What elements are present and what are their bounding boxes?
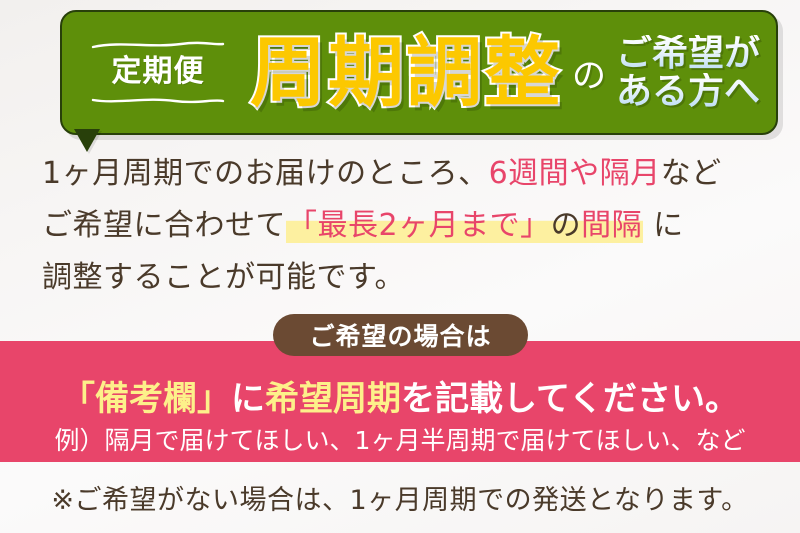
body-line-2-plain-a: ご希望に合わせて xyxy=(42,208,286,243)
pink-instruction-band: 「備考欄」に希望周期を記載してください。 例）隔月で届けてほしい、1ヶ月半周期で… xyxy=(0,341,800,462)
pink-band-main-text: 「備考欄」に希望周期を記載してください。 xyxy=(0,371,800,420)
kibou-case-pill-label: ご希望の場合は xyxy=(309,317,491,353)
pink-band-yellow-1: 「備考欄」 xyxy=(61,379,231,419)
wavy-line-top-icon xyxy=(91,41,225,49)
kibou-case-pill: ご希望の場合は xyxy=(273,314,528,356)
subscription-cycle-adjustment-banner: 定期便 周期調整 の ご希望が ある方へ 1ヶ月周期でのお届けのところ、6週間や… xyxy=(0,0,800,533)
header-green-bubble: 定期便 周期調整 の ご希望が ある方へ xyxy=(60,10,778,135)
body-line-1-plain-b: など xyxy=(661,156,722,191)
pink-band-white-2: を記載してください。 xyxy=(401,379,739,419)
body-line-2-plain-b: に xyxy=(643,208,684,243)
title-particle: の xyxy=(572,48,606,97)
body-paragraph: 1ヶ月周期でのお届けのところ、6週間や隔月など ご希望に合わせて「最長2ヶ月まで… xyxy=(42,148,772,304)
body-line-2-pink-a: 「最長2ヶ月まで」 xyxy=(287,208,551,243)
footer-note: ※ご希望がない場合は、1ヶ月周期での発送となります。 xyxy=(0,478,800,517)
body-line-2-highlight: 「最長2ヶ月まで」の間隔 xyxy=(286,208,643,243)
body-line-2-pink-b: 間隔 xyxy=(581,208,642,243)
pink-band-yellow-2: 希望周期 xyxy=(265,379,401,419)
header-subtext: ご希望が ある方へ xyxy=(616,35,760,110)
speech-bubble-tail-icon xyxy=(76,131,98,151)
body-line-2: ご希望に合わせて「最長2ヶ月まで」の間隔 に xyxy=(42,200,772,252)
header-subtext-line-2: ある方へ xyxy=(616,73,760,110)
body-line-1-plain-a: 1ヶ月周期でのお届けのところ、 xyxy=(42,156,489,191)
pink-band-example-text: 例）隔月で届けてほしい、1ヶ月半周期で届けてほしい、など xyxy=(0,421,800,457)
body-line-1: 1ヶ月周期でのお届けのところ、6週間や隔月など xyxy=(42,148,772,200)
header-subtext-line-1: ご希望が xyxy=(616,35,760,72)
body-line-1-pink: 6週間や隔月 xyxy=(489,156,661,191)
teikibin-label: 定期便 xyxy=(112,55,205,88)
pink-band-white-1: に xyxy=(231,379,265,419)
body-line-2-plain-mid: の xyxy=(551,208,582,243)
teikibin-badge: 定期便 xyxy=(84,41,232,104)
main-title: 周期調整 xyxy=(250,35,562,111)
wavy-line-bottom-icon xyxy=(91,96,225,104)
body-line-3: 調整することが可能です。 xyxy=(42,252,772,304)
